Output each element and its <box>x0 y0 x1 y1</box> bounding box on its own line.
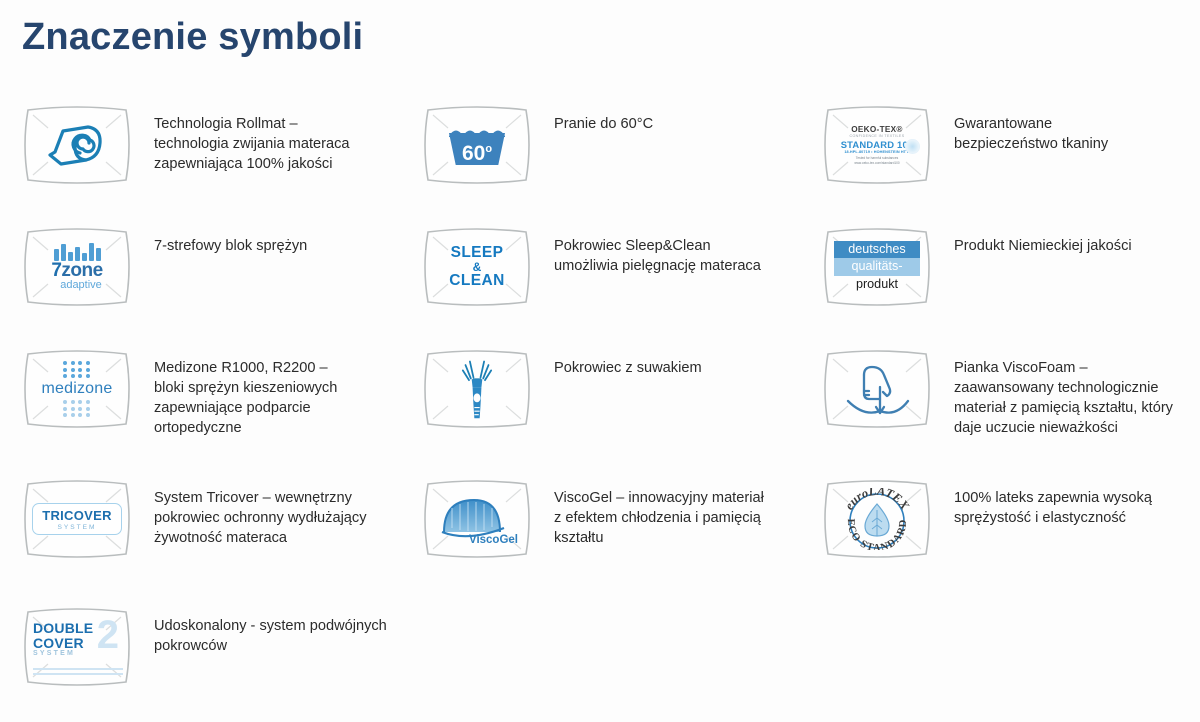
symbol-item-deutsches-qualitaetsprodukt[interactable]: deutsches qualitäts- produkt Produkt Nie… <box>800 222 1200 344</box>
symbol-description: Pokrowiec Sleep&Clean umożliwia pielęgna… <box>554 236 761 276</box>
double-cover-badge: 2 DOUBLE COVER SYSTEM <box>22 606 132 688</box>
symbols-grid: Technologia Rollmat – technologia zwijan… <box>0 100 1200 712</box>
symbol-description: Technologia Rollmat – technologia zwijan… <box>154 114 350 174</box>
seven-zone-icon: 7zone adaptive <box>36 236 118 298</box>
oeko-tex-subtitle: CONFIDENCE IN TEXTILES <box>835 134 919 138</box>
sleep-clean-badge: SLEEP & CLEAN <box>422 226 532 308</box>
symbol-item-sleep-clean[interactable]: SLEEP & CLEAN Pokrowiec Sleep&Clean umoż… <box>400 222 800 344</box>
symbols-row: TRICOVER SYSTEM System Tricover – wewnęt… <box>0 474 1200 602</box>
viscogel-wordmark: ViscoGel <box>469 534 518 546</box>
double-cover-line3: SYSTEM <box>33 650 123 657</box>
medizone-wordmark: medizone <box>42 380 113 398</box>
symbol-item-oeko-tex[interactable]: OEKO-TEX® CONFIDENCE IN TEXTILES STANDAR… <box>800 100 1200 222</box>
seven-zone-sub: adaptive <box>60 280 102 291</box>
symbol-description: ViscoGel – innowacyjny materiał z efekte… <box>554 488 764 548</box>
dq-line1: deutsches <box>834 241 920 258</box>
dq-line2: qualitäts- <box>834 258 920 275</box>
deutsches-qualitaetsprodukt-badge: deutsches qualitäts- produkt <box>822 226 932 308</box>
tricover-badge: TRICOVER SYSTEM <box>22 478 132 560</box>
oeko-tex-icon: OEKO-TEX® CONFIDENCE IN TEXTILES STANDAR… <box>836 114 918 176</box>
zone-bars-icon <box>54 243 101 261</box>
seven-zone-wordmark: 7zone <box>51 262 102 279</box>
tricover-name: TRICOVER <box>42 508 112 523</box>
symbol-description: Gwarantowane bezpieczeństwo tkaniny <box>954 114 1108 154</box>
rollmat-icon <box>36 114 118 176</box>
viscogel-badge: ViscoGel <box>422 478 532 560</box>
tricover-icon: TRICOVER SYSTEM <box>36 488 118 550</box>
symbol-description: Pranie do 60°C <box>554 114 653 134</box>
wash-temperature: 60o <box>447 135 507 168</box>
symbol-item-double-cover[interactable]: 2 DOUBLE COVER SYSTEM Udoskonalony - sys… <box>0 602 400 712</box>
double-cover-icon: 2 DOUBLE COVER SYSTEM <box>32 616 124 678</box>
symbol-item-zipper[interactable]: Pokrowiec z suwakiem <box>400 344 800 474</box>
symbol-item-viscofoam[interactable]: Pianka ViscoFoam – zaawansowany technolo… <box>800 344 1200 474</box>
eurolatex-icon: euroLATEX ECO STANDARD <box>836 488 918 550</box>
rollmat-badge <box>22 104 132 186</box>
medizone-dots-bottom-icon <box>42 400 113 417</box>
medizone-dots-top-icon <box>42 361 113 378</box>
memory-foam-hand-icon <box>836 358 918 420</box>
memory-foam-badge <box>822 348 932 430</box>
symbol-description: Pokrowiec z suwakiem <box>554 358 702 378</box>
deutsches-qualitaetsprodukt-icon: deutsches qualitäts- produkt <box>826 230 928 304</box>
medizone-icon: medizone <box>36 358 118 420</box>
medizone-badge: medizone <box>22 348 132 430</box>
double-cover-line1: DOUBLE <box>33 621 123 636</box>
symbol-item-rollmat[interactable]: Technologia Rollmat – technologia zwijan… <box>0 100 400 222</box>
double-cover-rules <box>33 665 123 675</box>
symbols-legend-page: Znaczenie symboli <box>0 0 1200 722</box>
symbol-item-medizone[interactable]: medizone Medizone R1000, R2200 – bloki s… <box>0 344 400 474</box>
symbol-description: Udoskonalony - system podwójnych pokrowc… <box>154 616 387 656</box>
symbols-row: 2 DOUBLE COVER SYSTEM Udoskonalony - sys… <box>0 602 1200 712</box>
double-cover-line2: COVER <box>33 636 123 651</box>
symbol-description: Pianka ViscoFoam – zaawansowany technolo… <box>954 358 1173 439</box>
symbol-item-tricover[interactable]: TRICOVER SYSTEM System Tricover – wewnęt… <box>0 474 400 602</box>
zipper-icon <box>436 358 518 420</box>
symbols-row: 7zone adaptive 7-strefowy blok sprężyn S… <box>0 222 1200 344</box>
sleep-clean-line1: SLEEP <box>449 245 504 261</box>
symbol-item-seven-zone[interactable]: 7zone adaptive 7-strefowy blok sprężyn <box>0 222 400 344</box>
zipper-badge <box>422 348 532 430</box>
oeko-tex-badge: OEKO-TEX® CONFIDENCE IN TEXTILES STANDAR… <box>822 104 932 186</box>
seven-zone-badge: 7zone adaptive <box>22 226 132 308</box>
symbol-item-wash-60[interactable]: 60o Pranie do 60°C <box>400 100 800 222</box>
symbol-description: System Tricover – wewnętrzny pokrowiec o… <box>154 488 367 548</box>
symbol-description: 100% lateks zapewnia wysoką sprężystość … <box>954 488 1152 528</box>
symbol-item-eurolatex[interactable]: euroLATEX ECO STANDARD 100% lateks zapew… <box>800 474 1200 602</box>
symbol-description: Produkt Niemieckiej jakości <box>954 236 1132 256</box>
viscogel-icon: ViscoGel <box>436 488 518 550</box>
symbol-description: Medizone R1000, R2200 – bloki sprężyn ki… <box>154 358 337 439</box>
symbol-item-viscogel[interactable]: ViscoGel ViscoGel – innowacyjny materiał… <box>400 474 800 602</box>
oeko-tex-footnote: Tested for harmful substances www.oeko-t… <box>835 156 919 165</box>
symbols-row: Technologia Rollmat – technologia zwijan… <box>0 100 1200 222</box>
eurolatex-badge: euroLATEX ECO STANDARD <box>822 478 932 560</box>
wash-60-icon: 60o <box>436 114 518 176</box>
oeko-tex-title: OEKO-TEX® <box>835 125 919 134</box>
dq-line3: produkt <box>834 276 920 293</box>
symbol-description: 7-strefowy blok sprężyn <box>154 236 307 256</box>
page-title: Znaczenie symboli <box>22 16 363 59</box>
symbols-row: medizone Medizone R1000, R2200 – bloki s… <box>0 344 1200 474</box>
wash-60-badge: 60o <box>422 104 532 186</box>
sleep-clean-line3: CLEAN <box>449 273 504 289</box>
sleep-clean-icon: SLEEP & CLEAN <box>436 236 518 298</box>
tricover-sub: SYSTEM <box>42 524 112 531</box>
